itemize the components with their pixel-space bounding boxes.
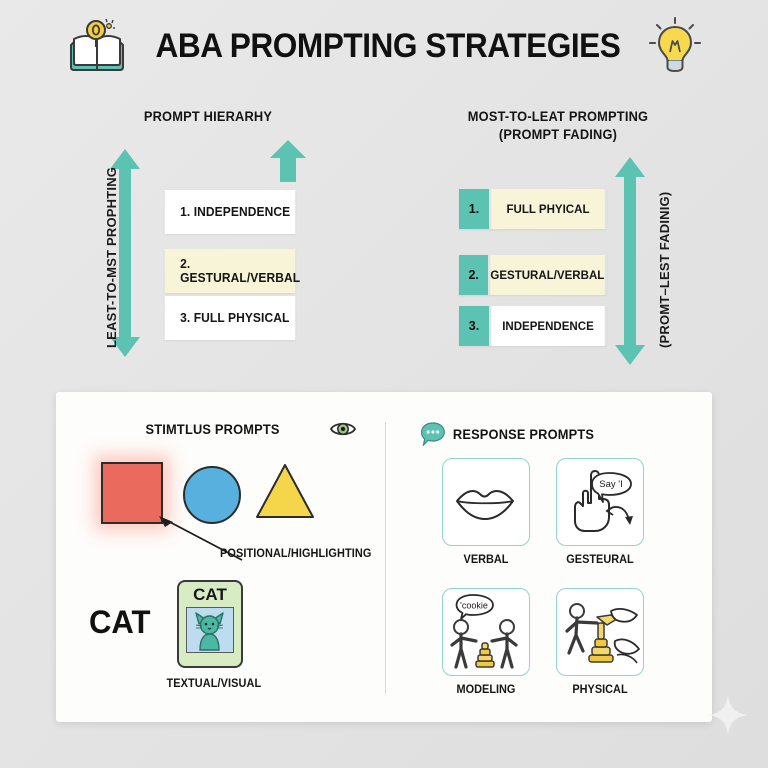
hierarchy-item-3[interactable]: 3. FULL PHYSICAL — [165, 296, 296, 340]
response-heading-label: RESPONSE PROMPTS — [453, 427, 594, 442]
response-label-gestural: GESTEURAL — [553, 554, 648, 566]
two-people-icon: 'cookie — [443, 589, 529, 675]
sparkle-icon — [706, 693, 750, 742]
cat-card-text: CAT — [193, 586, 227, 605]
response-label-modeling: MODELING — [439, 684, 534, 696]
page-title: ABA PROMPTING STRATEGIES — [156, 27, 621, 66]
red-square-shape — [101, 462, 163, 524]
right-section-heading-line2: (PROMPT FADING) — [449, 126, 668, 144]
stimulus-heading-group: STIMTLUS PROMPTS — [146, 422, 280, 437]
response-label-verbal: VERBAL — [439, 554, 534, 566]
up-arrow-icon — [268, 138, 308, 189]
fading-item-2-number: 2. — [459, 255, 488, 295]
gestural-bubble-text: Say 'I — [599, 479, 622, 490]
fading-item-1[interactable]: 1. FULL PHYICAL — [459, 189, 607, 229]
prompt-fading-axis-label: (PROMT–LEST FADINIG) — [657, 192, 672, 348]
fading-item-3[interactable]: 3. INDEPENDENCE — [459, 306, 607, 346]
lips-icon — [443, 459, 529, 545]
response-label-physical: PHYSICAL — [553, 684, 648, 696]
cat-visual-card: CAT — [177, 580, 243, 668]
cat-word-text: CAT — [89, 604, 150, 641]
textual-visual-caption: TEXTUAL/VISUAL — [166, 678, 261, 690]
speech-bubble-icon — [421, 422, 446, 446]
hierarchy-item-1[interactable]: 1. INDEPENDENCE — [165, 190, 296, 234]
least-to-most-axis-label: LEAST-TO-MST PROPHTING — [104, 167, 119, 348]
stimulus-heading-label: STIMTLUS PROMPTS — [146, 422, 280, 437]
response-card-modeling[interactable]: 'cookie — [442, 588, 530, 676]
fading-item-2[interactable]: 2. GESTURAL/VERBAL — [459, 255, 607, 295]
hand-over-hand-icon — [557, 589, 643, 675]
eye-icon — [330, 420, 356, 443]
lightbulb-icon — [648, 17, 702, 75]
fading-item-1-number: 1. — [459, 189, 489, 229]
bottom-panel: STIMTLUS PROMPTS POSITIONAL/HIGHLIGHTING… — [56, 392, 712, 722]
panel-divider — [385, 422, 386, 694]
right-section-heading-line1: MOST-TO-LEAT PROMPTING — [449, 108, 668, 126]
infographic-canvas: ABA PROMPTING STRATEGIES PROMPT HIERARHY — [0, 0, 768, 768]
fading-item-2-label: GESTURAL/VERBAL — [491, 255, 605, 295]
yellow-triangle-shape — [254, 462, 316, 525]
positional-highlighting-caption: POSITIONAL/HIGHLIGHTING — [220, 548, 371, 560]
response-heading-group: RESPONSE PROMPTS — [421, 422, 595, 446]
fading-item-3-label: INDEPENDENCE — [491, 306, 604, 346]
response-card-physical[interactable] — [556, 588, 644, 676]
cat-illustration — [186, 607, 234, 653]
left-section-heading: PROMPT HIERARHY — [104, 108, 313, 126]
prompt-fading-arrow-icon — [613, 155, 647, 372]
positional-arrow-icon — [156, 514, 246, 569]
response-card-verbal[interactable] — [442, 458, 530, 546]
pointing-hand-icon: Say 'I — [557, 459, 643, 545]
modeling-bubble-text: 'cookie — [460, 601, 488, 611]
header: ABA PROMPTING STRATEGIES — [0, 8, 768, 84]
fading-item-1-label: FULL PHYICAL — [491, 189, 604, 229]
response-card-gestural[interactable]: Say 'I — [556, 458, 644, 546]
open-book-icon — [66, 15, 128, 77]
fading-item-3-number: 3. — [459, 306, 489, 346]
hierarchy-item-2[interactable]: 2. GESTURAL/VERBAL — [165, 249, 296, 293]
